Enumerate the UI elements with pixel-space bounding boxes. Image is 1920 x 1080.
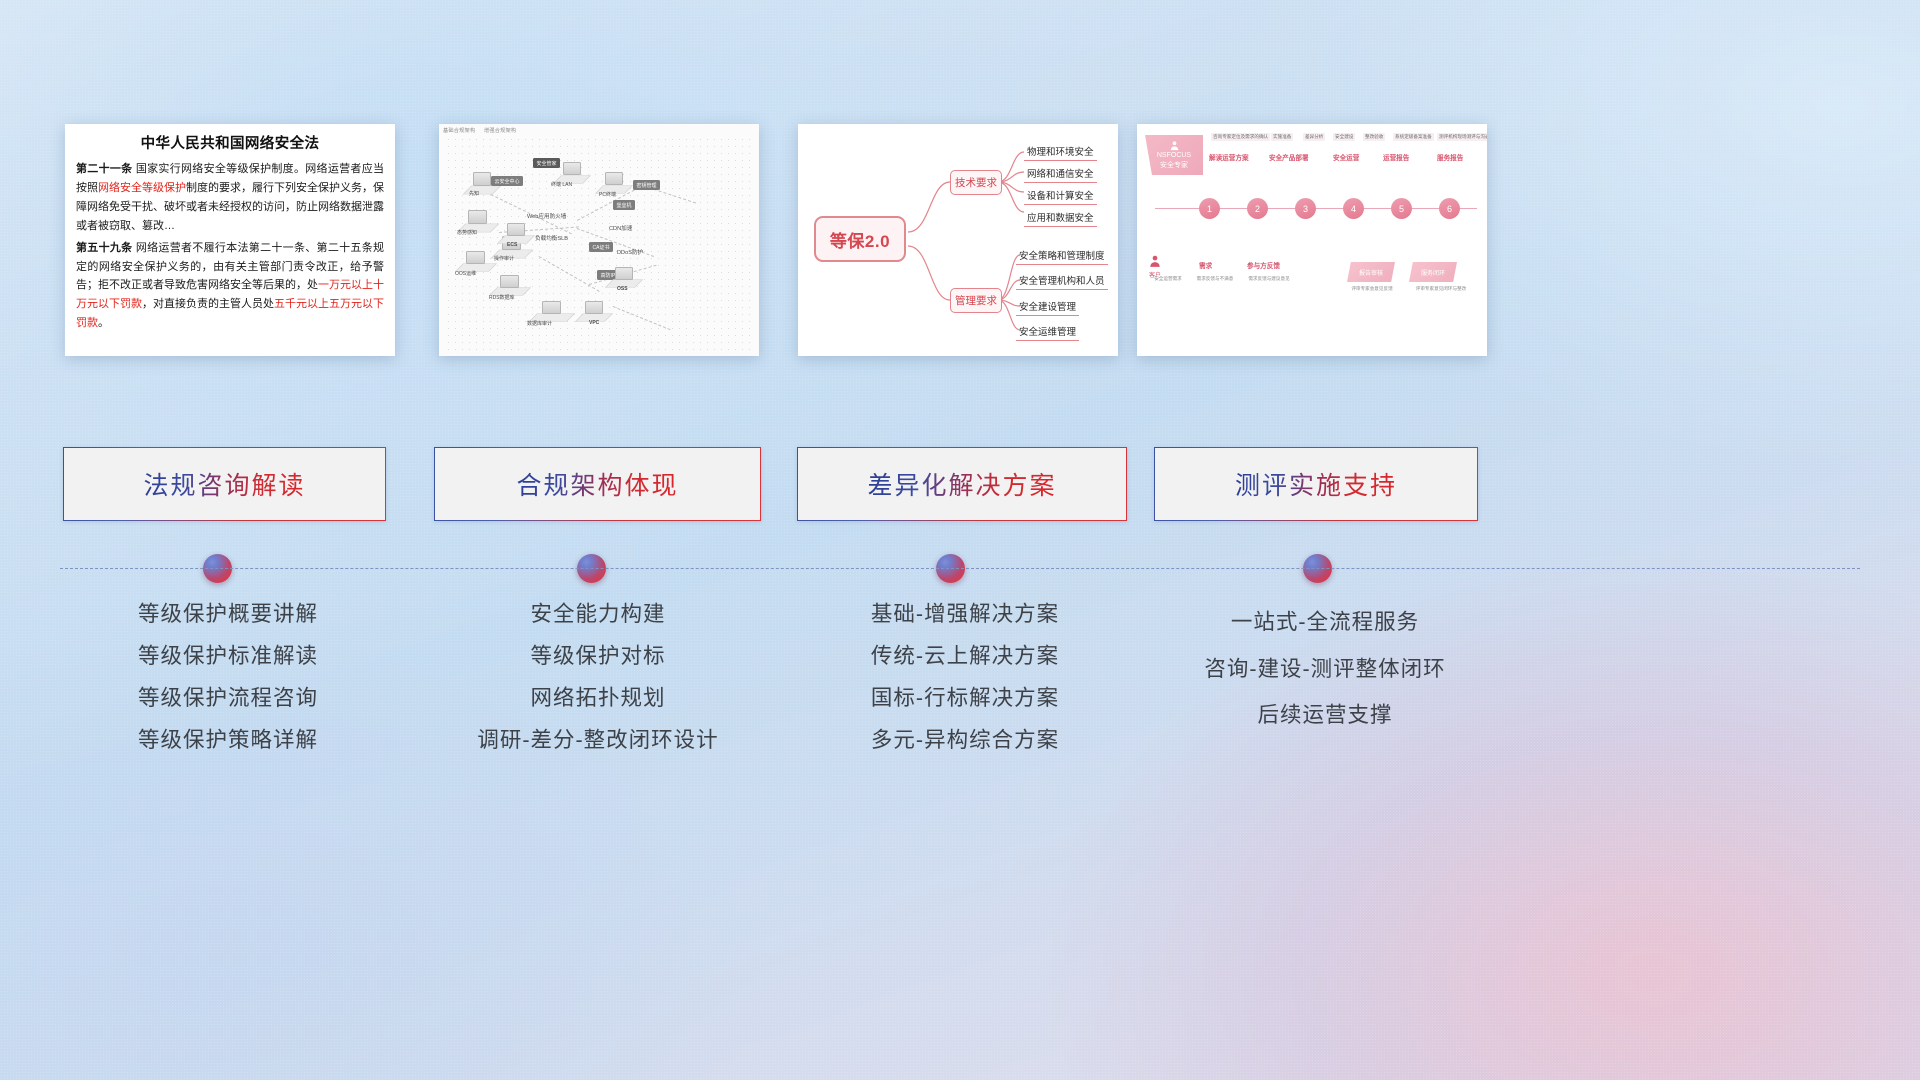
list-item: 基础-增强解决方案 [780,604,1150,626]
mind-map-leaf: 网络和通信安全 [1024,166,1097,183]
law-document-title: 中华人民共和国网络安全法 [76,132,384,153]
list-item: 等级保护标准解读 [43,646,413,668]
diagram-node-rds [500,275,519,288]
architecture-tab-enhanced: 增强合规架构 [484,128,516,134]
diagram-node-oss [615,267,633,280]
diagram-label: 操作审计 [494,255,514,262]
nsfocus-person-label: 需求 [1199,260,1212,270]
title-box-assessment-support[interactable]: 测评实施支持 [1154,447,1478,521]
diagram-chip-ca: CA证书 [589,242,613,252]
service-list-compliance-architecture: 安全能力构建 等级保护对标 网络拓扑规划 调研-差分-整改闭环设计 [413,604,783,772]
timeline-dashed-line [60,568,1860,569]
title-text: 差异化解决方案 [867,466,1056,502]
nsfocus-stage-label: 解读运营方案 [1209,152,1249,162]
preview-card-mind-map: 等保2.0 技术要求 管理要求 物理和环境安全 网络和通信安全 设备和计算安全 … [798,124,1118,356]
nsfocus-header-chip: 咨询专家定位及需求的确认 [1211,133,1270,141]
diagram-label: 态势感知 [457,229,477,236]
column-legal-consulting: 中华人民共和国网络安全法 第二十一条 国家实行网络安全等级保护制度。网络运营者应… [43,0,413,1080]
diagram-label: PC终端 [599,191,616,198]
diagram-node-xianzhi [473,172,491,186]
diagram-chip-security-butler: 安全管家 [533,158,560,168]
mind-map-leaf: 安全策略和管理制度 [1016,248,1108,265]
diagram-node-pc [605,172,623,185]
expert-user-icon [1169,140,1180,151]
diagram-node-situation [468,210,487,224]
list-item: 等级保护对标 [413,646,783,668]
nsfocus-step-node: 2 [1247,198,1268,219]
title-box-compliance-architecture[interactable]: 合规架构体现 [434,447,761,521]
nsfocus-step-node: 5 [1391,198,1412,219]
law-article-21-label: 第二十一条 [76,163,132,175]
architecture-diagram: 基础合规架构 增强合规架构 先知 态势感知 [439,124,759,356]
list-item: 安全能力构建 [413,604,783,626]
diagram-label-vpc: VPC [589,320,599,326]
diagram-chip-bastion: 堡垒机 [613,200,635,210]
law-article-59-label: 第五十九条 [76,242,132,254]
architecture-tab-basic: 基础合规架构 [443,128,475,134]
diagram-label-ddos: DDoS防护 [617,248,643,256]
diagram-label-ecs: ECS [507,242,517,248]
nsfocus-header-chip: 系统定级备案准备 [1393,133,1434,141]
nsfocus-block: 报告审核 [1347,262,1395,282]
law-article-59: 第五十九条 网络运营者不履行本法第二十一条、第二十五条规定的网络安全保护义务的，… [76,239,384,334]
nsfocus-block-caption: 评审专家意见闭环与整改 [1403,286,1479,292]
mind-map-leaf: 物理和环境安全 [1024,144,1097,161]
list-item: 调研-差分-整改闭环设计 [413,730,783,752]
column-differentiated-solutions: 等保2.0 技术要求 管理要求 物理和环境安全 网络和通信安全 设备和计算安全 … [780,0,1150,1080]
nsfocus-person-caption: 安全运营需求 [1143,276,1193,282]
preview-card-law-document: 中华人民共和国网络安全法 第二十一条 国家实行网络安全等级保护制度。网络运营者应… [65,124,395,356]
mind-map-leaf: 安全建设管理 [1016,299,1079,316]
mind-map-leaf: 安全运维管理 [1016,324,1079,341]
architecture-tabs: 基础合规架构 增强合规架构 [443,127,523,134]
law-article-59-text-c: 。 [98,317,109,329]
mind-map-branch-technical: 技术要求 [950,170,1002,195]
list-item: 等级保护策略详解 [43,730,413,752]
nsfocus-brand-badge: NSFOCUS 安全专家 [1145,135,1203,175]
nsfocus-header-chip: 实施准备 [1271,133,1293,141]
nsfocus-step-node: 6 [1439,198,1460,219]
list-item: 传统-云上解决方案 [780,646,1150,668]
nsfocus-brand-sub: 安全专家 [1160,161,1188,170]
diagram-node-terminal [563,162,581,175]
diagram-label-waf: Web应用防火墙 [527,212,566,220]
mind-map-leaf: 应用和数据安全 [1024,210,1097,227]
list-item: 等级保护流程咨询 [43,688,413,710]
service-list-differentiated-solutions: 基础-增强解决方案 传统-云上解决方案 国标-行标解决方案 多元-异构综合方案 [780,604,1150,772]
nsfocus-step-node: 4 [1343,198,1364,219]
mind-map-leaf: 设备和计算安全 [1024,188,1097,205]
service-list-assessment-support: 一站式-全流程服务 咨询-建设-测评整体闭环 后续运营支撑 [1140,612,1510,752]
nsfocus-timeline-diagram: NSFOCUS 安全专家 咨询专家定位及需求的确认 实施准备 差异分析 安全建设… [1137,124,1487,356]
diagram-node-oos [466,251,485,264]
list-item: 多元-异构综合方案 [780,730,1150,752]
diagram-node-ecs [507,223,525,236]
law-article-21: 第二十一条 国家实行网络安全等级保护制度。网络运营者应当按照网络安全等级保护制度… [76,160,384,236]
nsfocus-step-node: 1 [1199,198,1220,219]
nsfocus-person-label: 参与方反馈 [1247,260,1280,270]
diagram-label-oss: OSS [617,286,628,292]
preview-card-architecture-diagram: 基础合规架构 增强合规架构 先知 态势感知 [439,124,759,356]
nsfocus-person-caption: 需求反馈与不满意 [1187,276,1243,282]
diagram-label-rds: RDS数据库 [489,294,515,301]
list-item: 国标-行标解决方案 [780,688,1150,710]
diagram-label-slb: 负载均衡SLB [535,234,568,242]
nsfocus-block: 服务闭环 [1409,262,1457,282]
mind-map-branch-management: 管理要求 [950,288,1002,313]
nsfocus-header-chip: 整改验收 [1363,133,1385,141]
diagram-label-cdn: CDN加速 [609,224,632,232]
mind-map-leaf: 安全管理机构和人员 [1016,273,1108,290]
mind-map: 等保2.0 技术要求 管理要求 物理和环境安全 网络和通信安全 设备和计算安全 … [798,124,1118,356]
list-item: 等级保护概要讲解 [43,604,413,626]
diagram-node-vpc [585,301,603,314]
diagram-node-db-audit [542,301,561,314]
list-item: 咨询-建设-测评整体闭环 [1140,659,1510,681]
customer-user-icon [1148,254,1162,268]
list-item: 网络拓扑规划 [413,688,783,710]
nsfocus-header-chip: 安全建设 [1333,133,1355,141]
nsfocus-stage-label: 服务报告 [1437,152,1463,162]
nsfocus-step-node: 3 [1295,198,1316,219]
list-item: 一站式-全流程服务 [1140,612,1510,634]
list-item: 后续运营支撑 [1140,705,1510,727]
title-text: 合规架构体现 [516,466,678,502]
diagram-label: 先知 [469,190,479,197]
diagram-label-db-audit: 数据库审计 [527,320,552,327]
nsfocus-header-chip: 测评机构现场测评与沟通配合 [1437,133,1487,141]
law-article-21-highlight: 网络安全等级保护 [98,182,186,194]
mind-map-root: 等保2.0 [814,216,906,262]
nsfocus-person-caption: 需求反馈与建议意见 [1237,276,1301,282]
preview-card-nsfocus-timeline: NSFOCUS 安全专家 咨询专家定位及需求的确认 实施准备 差异分析 安全建设… [1137,124,1487,356]
nsfocus-stage-label: 安全产品部署 [1269,152,1309,162]
column-compliance-architecture: 基础合规架构 增强合规架构 先知 态势感知 [413,0,783,1080]
nsfocus-brand: NSFOCUS [1157,151,1191,160]
nsfocus-header-chip: 差异分析 [1303,133,1325,141]
title-text: 法规咨询解读 [143,466,305,502]
title-text: 测评实施支持 [1235,466,1397,502]
title-box-differentiated-solutions[interactable]: 差异化解决方案 [797,447,1127,521]
service-list-legal-consulting: 等级保护概要讲解 等级保护标准解读 等级保护流程咨询 等级保护策略详解 [43,604,413,772]
diagram-chip-kms: 密钥管理 [633,180,660,190]
nsfocus-stage-label: 运营报告 [1383,152,1409,162]
column-assessment-support: NSFOCUS 安全专家 咨询专家定位及需求的确认 实施准备 差异分析 安全建设… [1140,0,1510,1080]
diagram-label: 终端 LAN [551,181,572,188]
nsfocus-stage-label: 安全运营 [1333,152,1359,162]
title-box-legal-consulting[interactable]: 法规咨询解读 [63,447,386,521]
law-document-content: 中华人民共和国网络安全法 第二十一条 国家实行网络安全等级保护制度。网络运营者应… [65,124,395,339]
diagram-label-oos: OOS运维 [455,270,476,277]
nsfocus-block-caption: 评审专家会意见反馈 [1337,286,1407,292]
diagram-chip-cloud-center: 云安全中心 [491,176,523,186]
law-article-59-text-b: ，对直接负责的主管人员处 [142,298,274,310]
